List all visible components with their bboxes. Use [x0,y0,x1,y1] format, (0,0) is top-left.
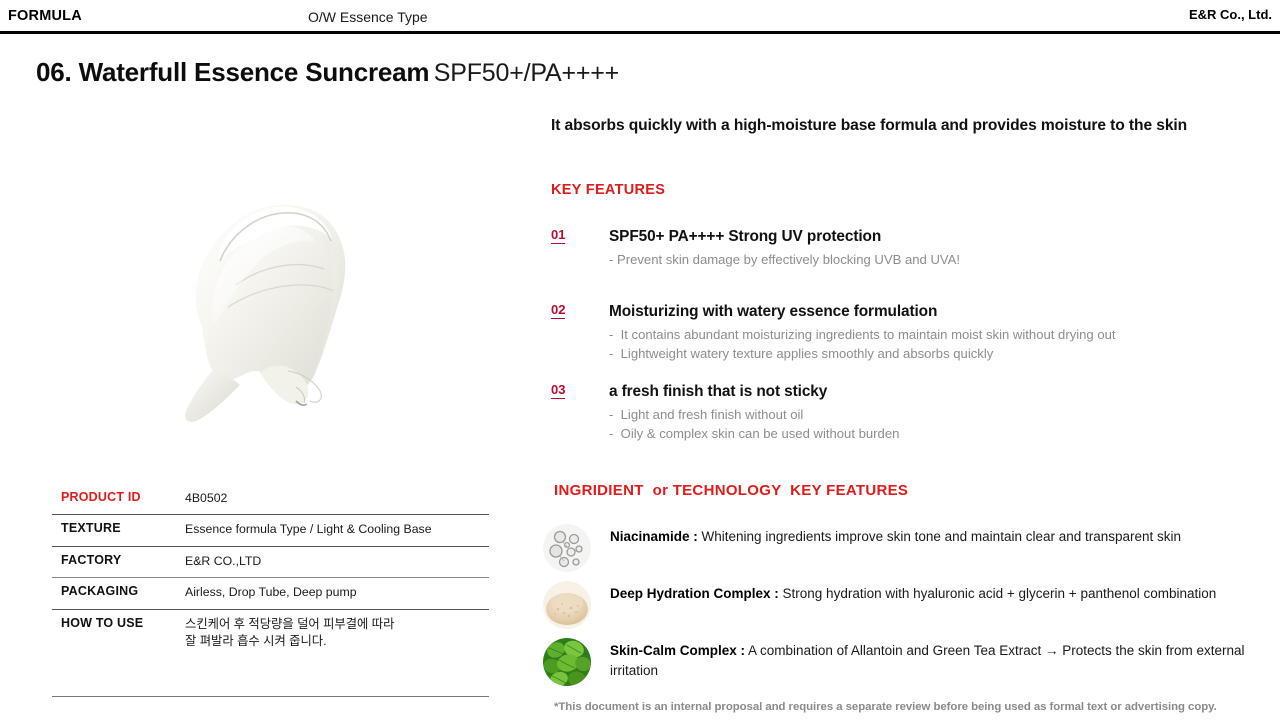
table-row: FACTORY E&R CO.,LTD [52,547,489,577]
feature-bullet-list: - Prevent skin damage by effectively blo… [609,251,1251,270]
feature-item-03: 03 a fresh finish that is not sticky - L… [551,383,1251,444]
emulsion-type-label: O/W Essence Type [308,9,428,25]
spec-value: 4B0502 [185,490,489,507]
feature-title: Moisturizing with watery essence formula… [609,303,1251,321]
disclaimer-footnote: *This document is an internal proposal a… [554,701,1280,713]
ingredient-text: Niacinamide : Whitening ingredients impr… [610,522,1253,547]
feature-title: SPF50+ PA++++ Strong UV protection [609,228,1251,246]
list-item: Deep Hydration Complex : Strong hydratio… [543,579,1253,629]
lead-description: It absorbs quickly with a high-moisture … [551,115,1241,137]
page-title-main: 06. Waterfull Essence Suncream [36,57,429,87]
feature-bullet: - It contains abundant moisturizing ingr… [609,326,1251,345]
spec-key: PACKAGING [52,584,185,598]
spec-key: PRODUCT ID [52,490,185,504]
list-item: Skin-Calm Complex : A combination of All… [543,636,1253,686]
product-cream-swatch-image [110,175,430,435]
page-title: 06. Waterfull Essence Suncream SPF50+/PA… [36,57,619,88]
header-divider [0,31,1280,34]
feature-item-01: 01 SPF50+ PA++++ Strong UV protection - … [551,228,1251,270]
feature-bullet: - Prevent skin damage by effectively blo… [609,251,1251,270]
green-leaves-thumbnail-icon [543,638,591,686]
table-row: PACKAGING Airless, Drop Tube, Deep pump [52,578,489,608]
product-spec-table: PRODUCT ID 4B0502 TEXTURE Essence formul… [52,484,489,697]
ingredient-text: Skin-Calm Complex : A combination of All… [610,636,1253,680]
ingredient-desc: Whitening ingredients improve skin tone … [698,529,1181,544]
spec-value: 스킨케어 후 적당량을 덜어 피부결에 따라 잘 펴발라 흡수 시켜 줍니다. [185,616,489,651]
ingredient-technology-heading: INGRIDIENT or TECHNOLOGY KEY FEATURES [554,482,908,499]
spec-value: Essence formula Type / Light & Cooling B… [185,521,489,538]
spec-key: HOW TO USE [52,616,185,630]
feature-item-02: 02 Moisturizing with watery essence form… [551,303,1251,364]
ingredient-text: Deep Hydration Complex : Strong hydratio… [610,579,1253,604]
feature-number: 03 [551,383,565,399]
table-bottom-divider [52,696,489,697]
ingredient-name: Niacinamide : [610,529,698,544]
feature-bullet: - Oily & complex skin can be used withou… [609,425,1251,444]
spec-key: FACTORY [52,553,185,567]
feature-bullet: - Lightweight watery texture applies smo… [609,345,1251,364]
feature-title: a fresh finish that is not sticky [609,383,1251,401]
list-item: Niacinamide : Whitening ingredients impr… [543,522,1253,572]
table-row: TEXTURE Essence formula Type / Light & C… [52,515,489,545]
feature-number: 01 [551,228,565,244]
spec-value: E&R CO.,LTD [185,553,489,570]
formula-label: FORMULA [8,8,82,24]
feature-bullet-list: - Light and fresh finish without oil - O… [609,406,1251,443]
spec-key: TEXTURE [52,521,185,535]
powder-thumbnail-icon [543,581,591,629]
ingredient-list: Niacinamide : Whitening ingredients impr… [543,522,1253,693]
feature-number: 02 [551,303,565,319]
ingredient-name: Deep Hydration Complex : [610,586,779,601]
company-name-label: E&R Co., Ltd. [1189,7,1272,22]
table-row: HOW TO USE 스킨케어 후 적당량을 덜어 피부결에 따라 잘 펴발라 … [52,610,489,658]
key-features-heading: KEY FEATURES [551,182,665,198]
page-title-spf: SPF50+/PA++++ [434,59,619,87]
top-header-bar: FORMULA O/W Essence Type E&R Co., Ltd. [0,0,1280,31]
table-row: PRODUCT ID 4B0502 [52,484,489,514]
feature-bullet-list: - It contains abundant moisturizing ingr… [609,326,1251,363]
ingredient-name: Skin-Calm Complex : [610,643,745,658]
feature-bullet: - Light and fresh finish without oil [609,406,1251,425]
bubbles-thumbnail-icon [543,524,591,572]
ingredient-desc: Strong hydration with hyaluronic acid + … [779,586,1217,601]
spec-value: Airless, Drop Tube, Deep pump [185,584,489,601]
